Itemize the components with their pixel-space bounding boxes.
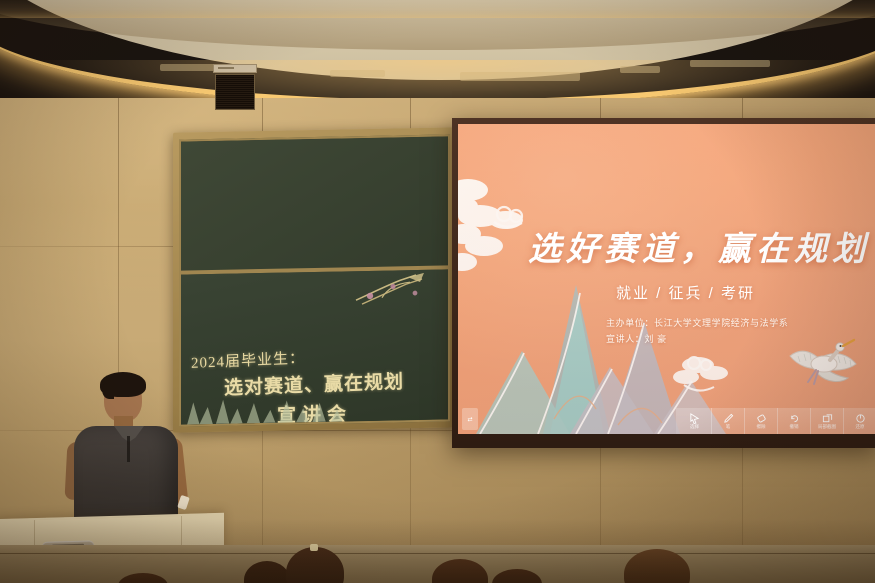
slide-subtitle: 就业 / 征兵 / 考研 [616, 282, 755, 303]
blackboard-surface: 2024届毕业生： 选对赛道、赢在规划 宣讲会 —经济与法学系 2023年4月2… [179, 134, 450, 426]
toolbar-cursor-button[interactable]: 选择 [678, 408, 711, 434]
toolbar-undo-label: 撤销 [790, 425, 799, 430]
toolbar-pen-label: 笔 [726, 425, 731, 430]
presenter-placket [127, 436, 130, 462]
cursor-icon [689, 413, 700, 424]
projection-screen[interactable]: 选好赛道，赢在规划 就业 / 征兵 / 考研 主办单位：长江大学文理学院经济与法… [458, 124, 875, 434]
speaker-label-strip [213, 64, 257, 73]
floor-shadow [0, 519, 875, 583]
blackboard-lower-panel: 2024届毕业生： 选对赛道、赢在规划 宣讲会 —经济与法学系 2023年4月2… [181, 269, 448, 424]
toolbar-cursor-label: 选择 [690, 425, 699, 430]
toolbar-undo-button[interactable]: 撤销 [777, 408, 810, 434]
refresh-icon [855, 413, 866, 424]
toolbar-screenshot-label: 局部截图 [818, 425, 836, 430]
speaker-grille [215, 74, 255, 110]
chalk-line-1: 2024届毕业生： [191, 346, 306, 372]
whiteboard-toolbar[interactable]: 选择 笔 擦除 撤销 局部截图 还原 [676, 408, 875, 434]
eraser-icon [756, 413, 767, 424]
toolbar-refresh-button[interactable]: 还原 [843, 408, 875, 434]
toolbar-eraser-button[interactable]: 擦除 [744, 408, 777, 434]
slide-speaker-line: 宣讲人：刘 豪 [606, 332, 667, 345]
undo-icon [789, 413, 800, 424]
toolbar-pen-button[interactable]: 笔 [711, 408, 744, 434]
slide-organizer-line: 主办单位：长江大学文理学院经济与法学系 [606, 316, 788, 329]
blackboard-upper-panel [181, 136, 448, 274]
toolbar-screenshot-button[interactable]: 局部截图 [810, 408, 843, 434]
lecture-hall-photo: 2024届毕业生： 选对赛道、赢在规划 宣讲会 —经济与法学系 2023年4月2… [0, 0, 875, 583]
slide-main-title: 选好赛道，赢在规划 [528, 222, 875, 270]
slide-side-tab-button[interactable]: ⇄ [462, 408, 478, 430]
presenter-hair [100, 372, 146, 397]
screenshot-icon [822, 413, 833, 424]
screen-sheen [458, 124, 875, 434]
toolbar-eraser-label: 擦除 [757, 425, 766, 430]
presenter [66, 372, 196, 532]
chalk-grass-drawing [181, 393, 448, 424]
blackboard: 2024届毕业生： 选对赛道、赢在规划 宣讲会 —经济与法学系 2023年4月2… [173, 130, 456, 430]
chalk-flower-drawing [352, 273, 432, 309]
slide-side-tab-label: ⇄ [467, 416, 472, 423]
toolbar-refresh-label: 还原 [856, 425, 865, 430]
pen-icon [723, 413, 734, 424]
wall-speaker [213, 64, 257, 110]
